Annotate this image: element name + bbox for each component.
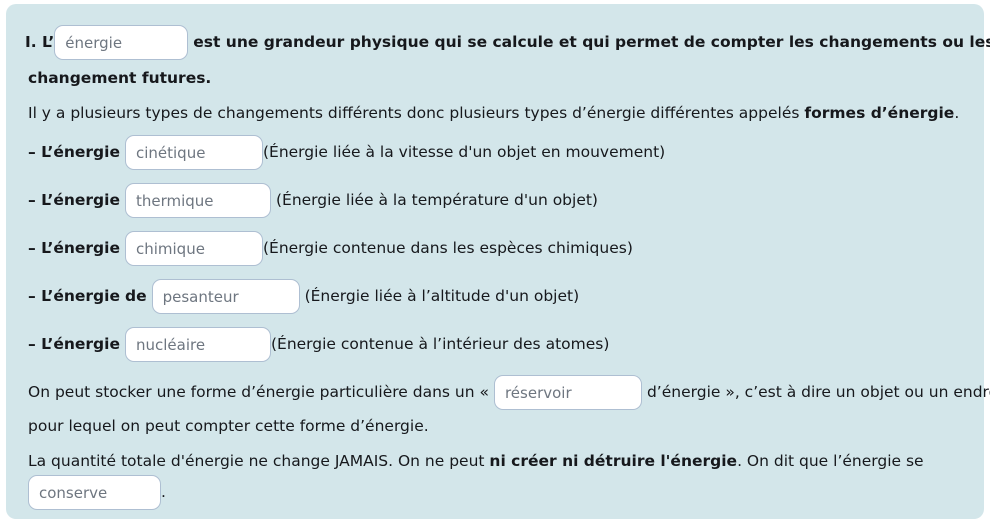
blank-input-pesanteur[interactable] (152, 279, 300, 314)
conservation-line: La quantité totale d'énergie ne change J… (28, 453, 924, 469)
energy-row-cinetique: – L’énergie (Énergie liée à la vitesse d… (28, 135, 665, 170)
energy-row-description: (Énergie liée à la vitesse d'un objet en… (263, 144, 665, 160)
energy-row-label: – L’énergie (28, 144, 120, 160)
energy-row-thermique: – L’énergie (Énergie liée à la températu… (28, 183, 598, 218)
blank-input-thermique[interactable] (125, 183, 271, 218)
blank-input-nucleaire[interactable] (125, 327, 271, 362)
blank-input-conserve[interactable] (28, 475, 161, 510)
intro-line2-text: changement futures. (28, 70, 211, 86)
conservation-blank-row: . (28, 475, 166, 510)
energy-row-description: (Énergie contenue dans les espèces chimi… (263, 240, 633, 256)
energy-row-description: (Énergie contenue à l’intérieur des atom… (271, 336, 609, 352)
conservation-text-before: La quantité totale d'énergie ne change J… (28, 452, 489, 470)
types-text-before: Il y a plusieurs types de changements di… (28, 104, 804, 122)
intro-line-1: I. L’ est une grandeur physique qui se c… (25, 25, 990, 60)
energy-row-pesanteur: – L’énergie de (Énergie liée à l’altitud… (28, 279, 579, 314)
exercise-card: I. L’ est une grandeur physique qui se c… (6, 4, 984, 519)
energy-row-label: – L’énergie (28, 288, 120, 304)
energy-row-label: – L’énergie (28, 192, 120, 208)
energy-row-description: (Énergie liée à l’altitude d'un objet) (305, 288, 580, 304)
energy-row-label: – L’énergie (28, 240, 120, 256)
types-paragraph: Il y a plusieurs types de changements di… (28, 105, 959, 121)
storage-line2-text: pour lequel on peut compter cette forme … (28, 418, 429, 434)
types-paragraph-line: Il y a plusieurs types de changements di… (28, 105, 959, 121)
energy-row-chimique: – L’énergie (Énergie contenue dans les e… (28, 231, 633, 266)
types-text-bold: formes d’énergie (804, 104, 954, 122)
blank-input-energie[interactable] (54, 25, 188, 60)
intro-prefix: I. L’ (25, 34, 54, 50)
energy-row-label-suffix: de (125, 288, 147, 304)
conservation-text-after: . On dit que l’énergie se (737, 452, 924, 470)
intro-line1-text: est une grandeur physique qui se calcule… (193, 34, 990, 50)
storage-text-before: On peut stocker une forme d’énergie part… (28, 384, 489, 400)
storage-text-after: d’énergie », c’est à dire un objet ou un… (647, 384, 990, 400)
storage-line-2: pour lequel on peut compter cette forme … (28, 418, 429, 434)
storage-line-1: On peut stocker une forme d’énergie part… (28, 375, 990, 410)
energy-row-label: – L’énergie (28, 336, 120, 352)
conservation-trailing-punctuation: . (161, 484, 166, 500)
blank-input-chimique[interactable] (125, 231, 263, 266)
intro-line-2: changement futures. (28, 70, 211, 86)
conservation-text: La quantité totale d'énergie ne change J… (28, 453, 924, 469)
blank-input-cinetique[interactable] (125, 135, 263, 170)
energy-row-nucleaire: – L’énergie (Énergie contenue à l’intéri… (28, 327, 609, 362)
types-text-after: . (954, 104, 959, 122)
blank-input-reservoir[interactable] (494, 375, 642, 410)
conservation-text-bold: ni créer ni détruire l'énergie (489, 452, 737, 470)
energy-row-description: (Énergie liée à la température d'un obje… (276, 192, 598, 208)
